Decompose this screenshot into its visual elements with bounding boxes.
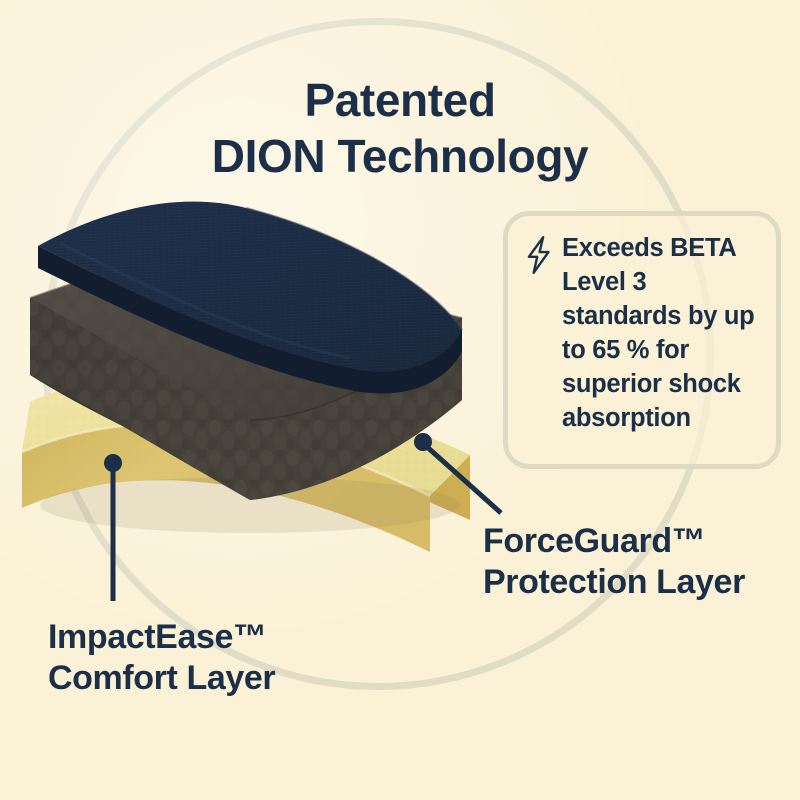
layer-impact-ease-comfort — [22, 373, 470, 552]
label-impact-ease-comfort-layer: ImpactEase™ Comfort Layer — [48, 617, 275, 700]
leader-force-guard — [414, 433, 501, 513]
layer-top-cover-sheet — [38, 202, 462, 394]
lightning-bolt-icon — [524, 236, 554, 274]
claim-callout-box: Exceeds BETA Level 3 standards by up to … — [503, 211, 781, 469]
page-title: Patented DION Technology — [0, 72, 800, 184]
layer-force-guard-protection — [30, 248, 462, 533]
infographic-canvas: Patented DION Technology — [0, 0, 800, 800]
label-force-guard-protection-layer: ForceGuard™ Protection Layer — [483, 521, 745, 604]
claim-callout-text: Exceeds BETA Level 3 standards by up to … — [562, 232, 762, 435]
leader-impact-ease — [104, 454, 122, 601]
